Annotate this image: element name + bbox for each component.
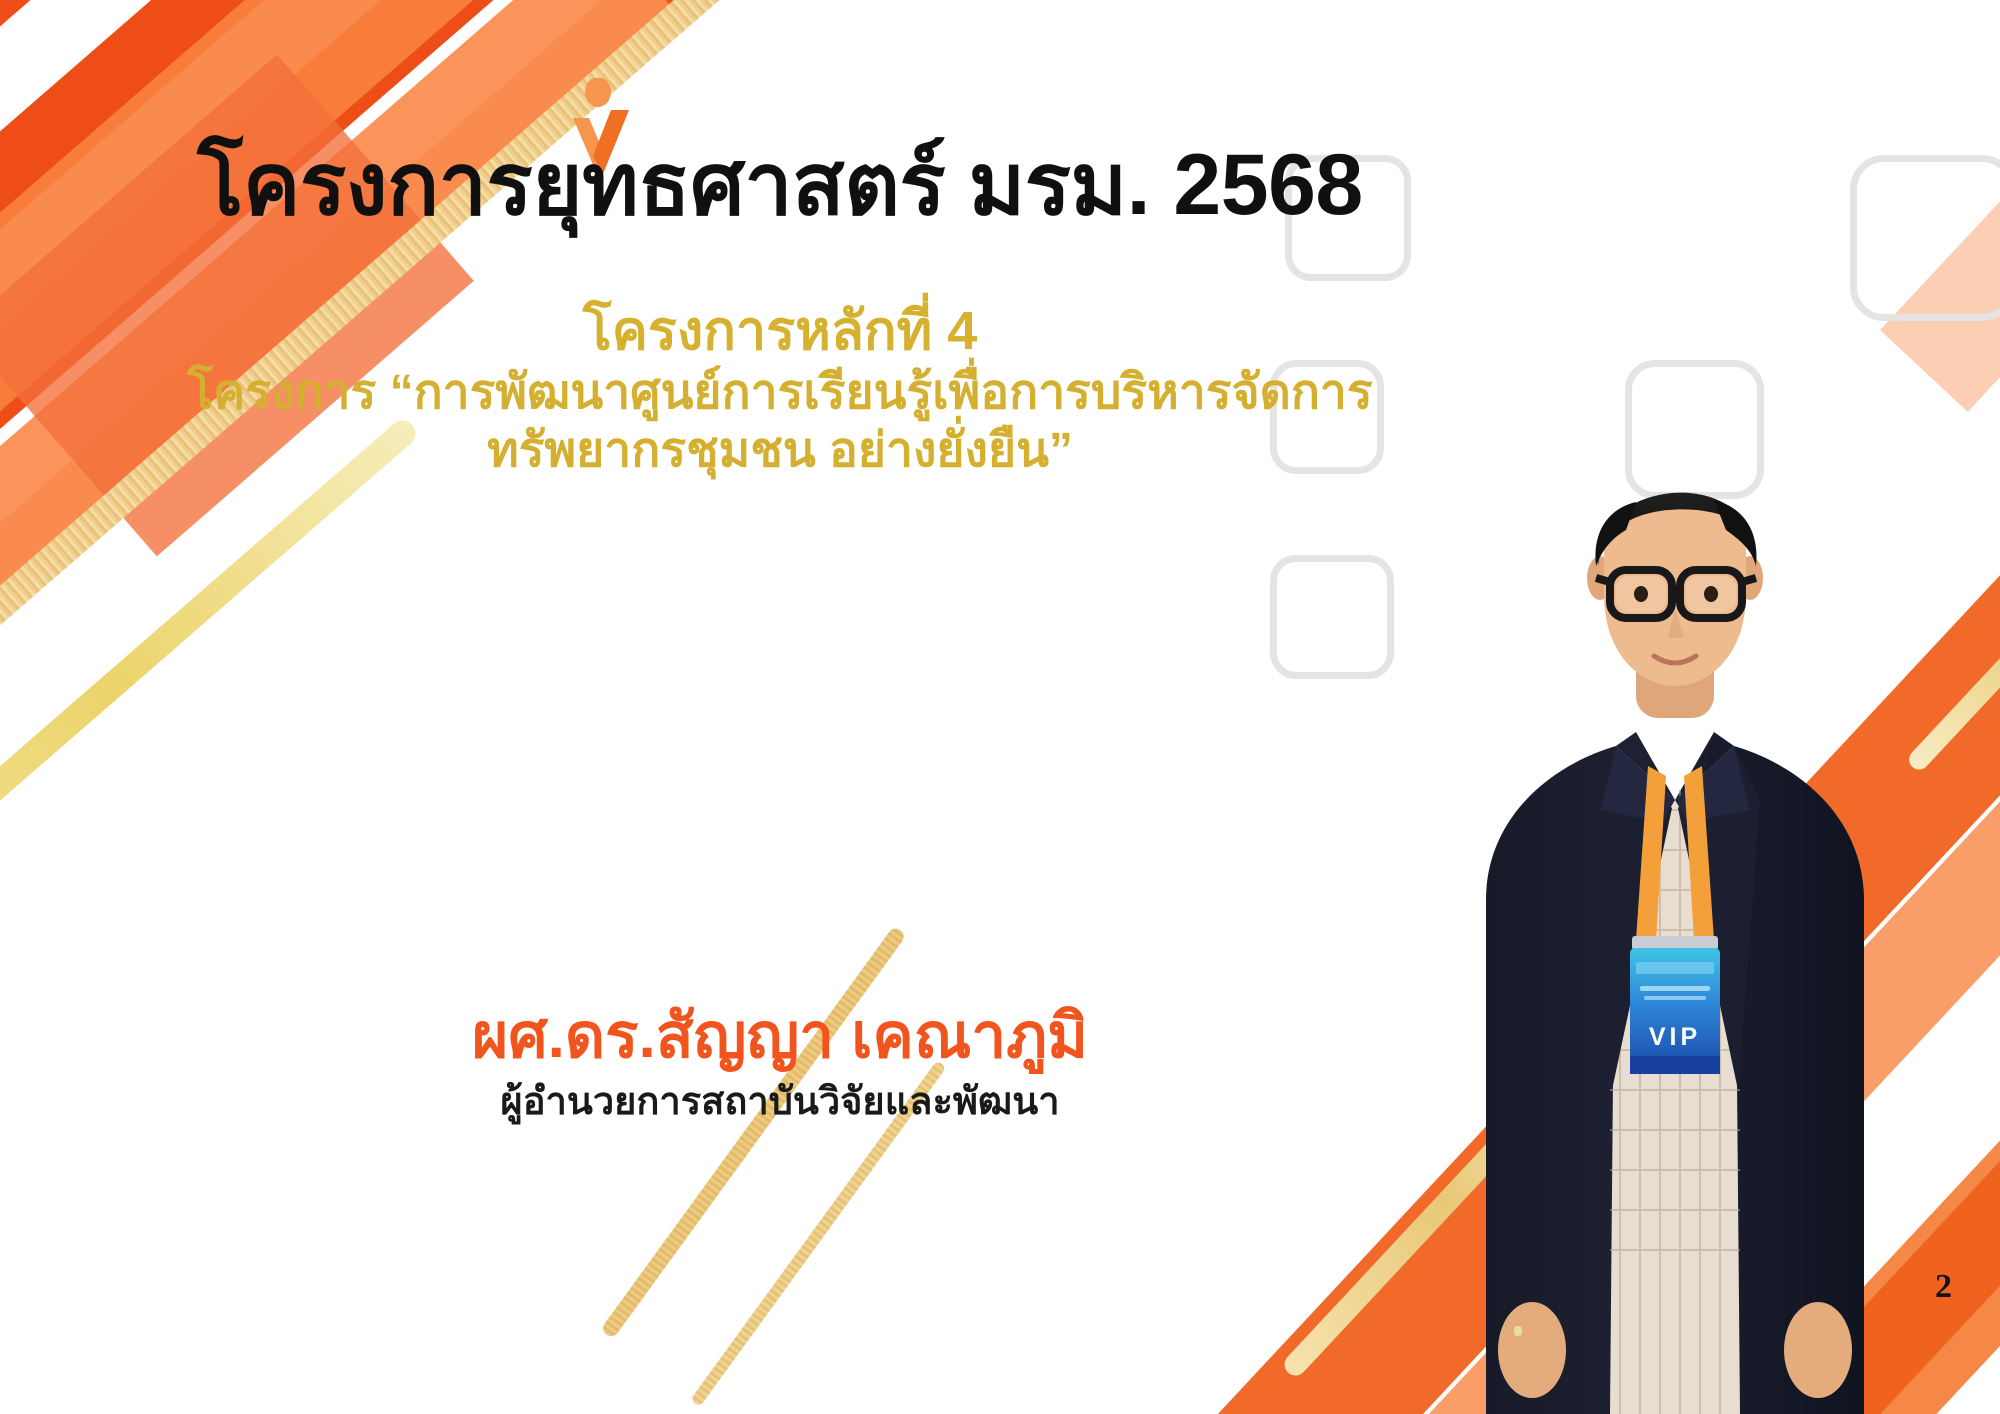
presenter-photo: VIP [1440, 470, 1910, 1414]
project-heading: โครงการหลักที่ 4 [0, 300, 1560, 364]
subtitle-block: โครงการหลักที่ 4 โครงการ “การพัฒนาศูนย์ก… [0, 300, 1560, 481]
deco-rounded-square-5 [1270, 555, 1394, 679]
project-description-line-1: โครงการ “การพัฒนาศูนย์การเรียนรู้เพื่อกา… [0, 364, 1560, 423]
deco-diagonal-bar-topright [1880, 0, 2000, 412]
presentation-slide: โครงการยุทธศาสตร์ มรม. 2568 โครงการหลักท… [0, 0, 2000, 1414]
deco-gold-streak-3 [600, 925, 907, 1339]
project-description: โครงการ “การพัฒนาศูนย์การเรียนรู้เพื่อกา… [0, 364, 1560, 481]
project-description-line-2: ทรัพยากรชุมชน อย่างยั่งยืน” [0, 422, 1560, 481]
deco-gold-streak-6 [1905, 519, 2000, 774]
title-block: โครงการยุทธศาสตร์ มรม. 2568 [0, 140, 1560, 230]
presenter-role: ผู้อำนวยการสถาบันวิจัยและพัฒนา [200, 1080, 1360, 1126]
deco-rounded-square-2 [1850, 155, 2000, 321]
presenter-name: ผศ.ดร.สัญญา เคณาภูมิ [200, 1000, 1360, 1074]
badge-label: VIP [1649, 1023, 1701, 1051]
page-title: โครงการยุทธศาสตร์ มรม. 2568 [0, 140, 1560, 230]
deco-gold-streak-2 [0, 415, 421, 959]
page-number: 2 [1935, 1268, 1952, 1306]
presenter-block: ผศ.ดร.สัญญา เคณาภูมิ ผู้อำนวยการสถาบันวิ… [200, 1000, 1360, 1126]
